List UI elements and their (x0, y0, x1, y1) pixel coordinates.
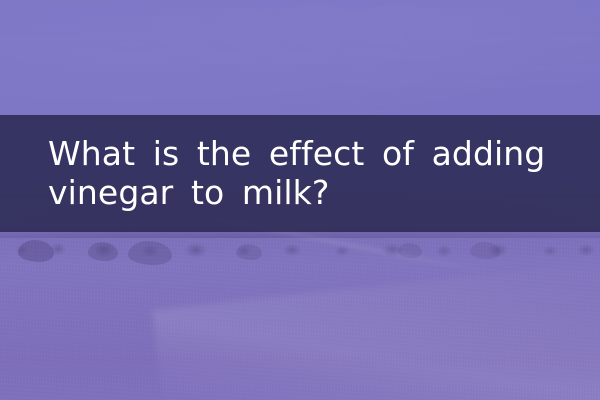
question-text: What is the effect of adding vinegar to … (48, 134, 554, 212)
question-card: What is the effect of adding vinegar to … (0, 0, 600, 400)
caption-band: What is the effect of adding vinegar to … (0, 115, 600, 232)
